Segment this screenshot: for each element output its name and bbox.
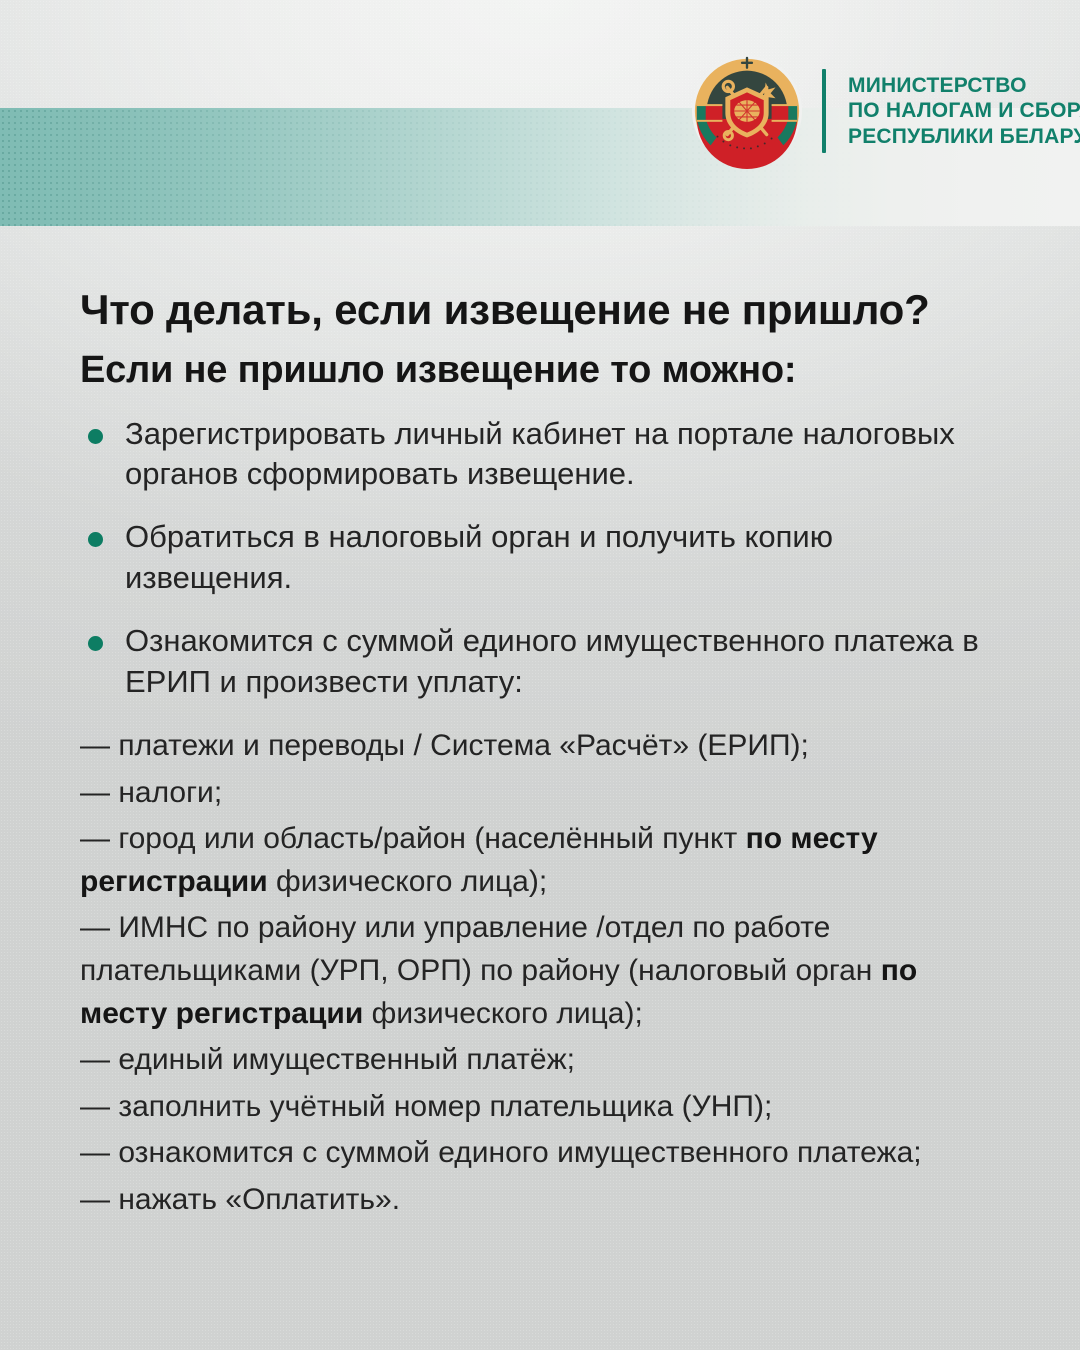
dash-list-item: — город или область/район (населённый пу…: [80, 818, 1005, 903]
dash-item-text: — налоги;: [80, 776, 222, 809]
page-canvas: МИНИСТЕРСТВО ПО НАЛОГАМ И СБОРАМ РЕСПУБЛ…: [0, 0, 1080, 1350]
dash-item-text: — платежи и переводы / Система «Расчёт» …: [80, 729, 809, 762]
dash-item-text: физического лица);: [363, 997, 643, 1030]
ministry-name: МИНИСТЕРСТВО ПО НАЛОГАМ И СБОРАМ РЕСПУБЛ…: [848, 75, 1080, 147]
belarus-coat-of-arms-icon: [688, 52, 806, 170]
dash-list-item: — платежи и переводы / Система «Расчёт» …: [80, 725, 1005, 768]
list-item: Обратиться в налоговый орган и получить …: [80, 517, 1005, 599]
bullet-dot-icon: [88, 532, 103, 547]
dash-list-item: — ознакомится с суммой единого имуществе…: [80, 1132, 1005, 1175]
dash-item-text: — единый имущественный платёж;: [80, 1043, 575, 1076]
dash-item-text: физического лица);: [268, 865, 548, 898]
ministry-line-1: МИНИСТЕРСТВО: [848, 75, 1080, 96]
list-item: Ознакомится с суммой единого имущественн…: [80, 621, 1005, 703]
dash-item-text: — заполнить учётный номер плательщика (У…: [80, 1090, 772, 1123]
bullet-dot-icon: [88, 429, 103, 444]
bullet-list: Зарегистрировать личный кабинет на порта…: [80, 414, 1010, 703]
dash-list-item: — ИМНС по району или управление /отдел п…: [80, 907, 1005, 1035]
dash-item-text: — ознакомится с суммой единого имуществе…: [80, 1136, 922, 1169]
dash-item-text: — ИМНС по району или управление /отдел п…: [80, 911, 881, 987]
ministry-line-3: РЕСПУБЛИКИ БЕЛАРУСЬ: [848, 126, 1080, 147]
page-title: Что делать, если извещение не пришло?: [80, 286, 1010, 333]
content-body: Что делать, если извещение не пришло? Ес…: [80, 286, 1010, 1226]
page-subtitle: Если не пришло извещение то можно:: [80, 349, 1010, 392]
dash-item-text: — нажать «Оплатить».: [80, 1183, 400, 1216]
dash-list-item: — единый имущественный платёж;: [80, 1039, 1005, 1082]
list-item: Зарегистрировать личный кабинет на порта…: [80, 414, 1005, 496]
dash-item-text: — город или область/район (населённый пу…: [80, 822, 746, 855]
list-item-text: Обратиться в налоговый орган и получить …: [125, 519, 833, 595]
dash-list: — платежи и переводы / Система «Расчёт» …: [80, 725, 1010, 1222]
bullet-dot-icon: [88, 636, 103, 651]
dash-list-item: — налоги;: [80, 772, 1005, 815]
logo-divider: [822, 69, 826, 153]
dash-list-item: — нажать «Оплатить».: [80, 1179, 1005, 1222]
list-item-text: Зарегистрировать личный кабинет на порта…: [125, 416, 955, 492]
list-item-text: Ознакомится с суммой единого имущественн…: [125, 623, 979, 699]
dash-list-item: — заполнить учётный номер плательщика (У…: [80, 1086, 1005, 1129]
ministry-line-2: ПО НАЛОГАМ И СБОРАМ: [848, 100, 1080, 121]
ministry-logo-lockup: МИНИСТЕРСТВО ПО НАЛОГАМ И СБОРАМ РЕСПУБЛ…: [688, 52, 1080, 170]
